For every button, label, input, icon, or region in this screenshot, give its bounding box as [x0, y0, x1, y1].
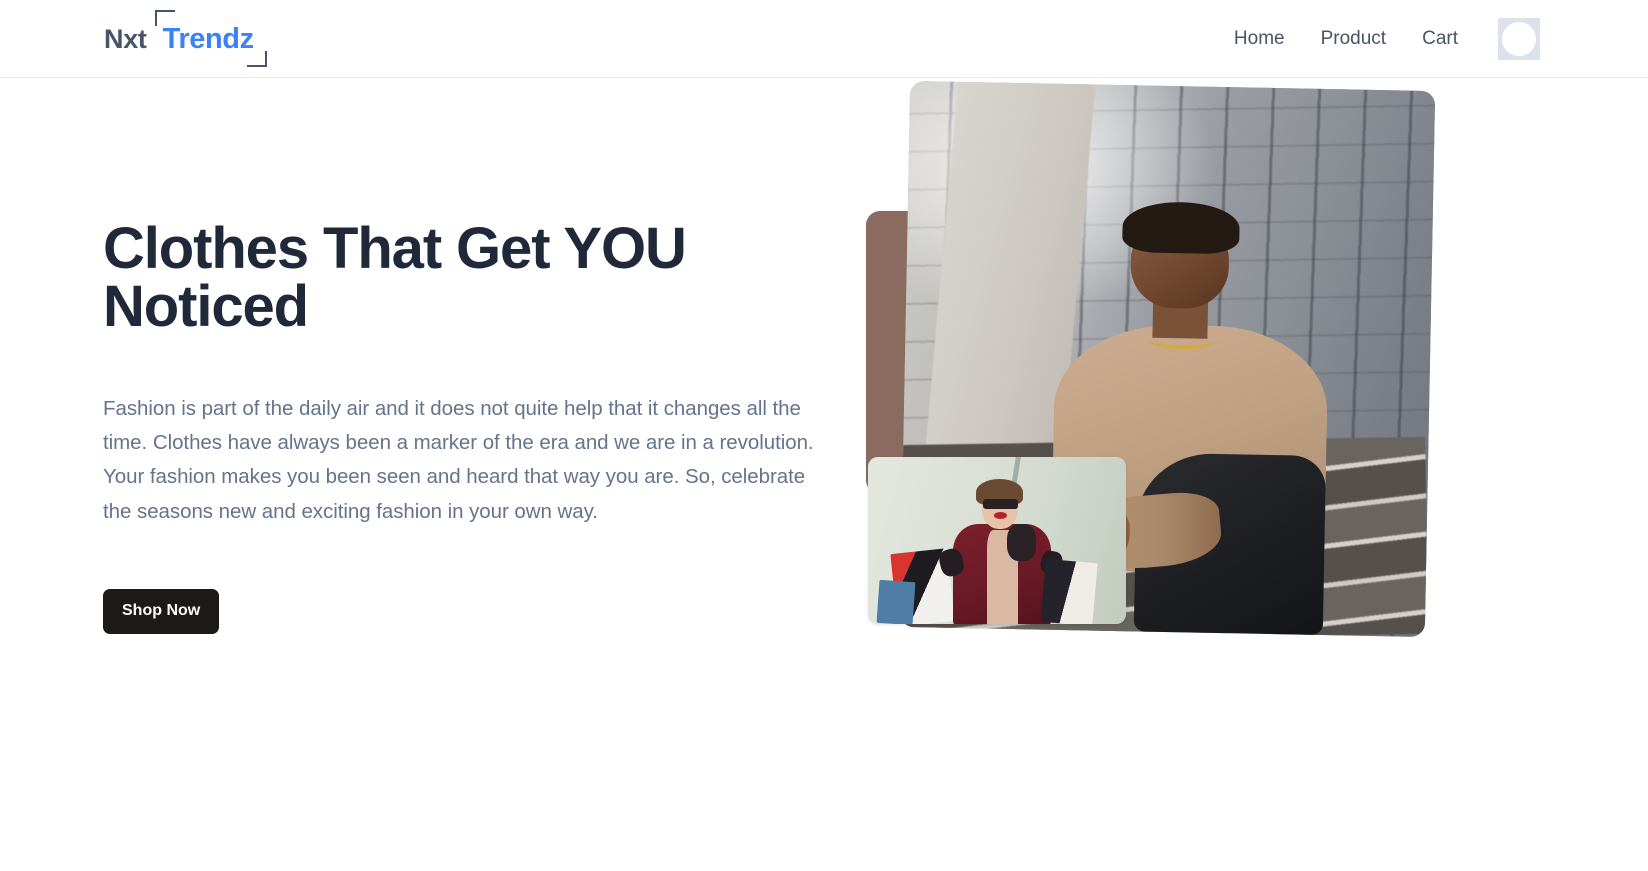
nav-item-cart[interactable]: Cart — [1404, 21, 1476, 56]
hero-imagery — [830, 78, 1648, 871]
logo-bracket-top-left-icon — [155, 10, 175, 26]
hero-inset-photo — [868, 457, 1126, 624]
user-avatar-placeholder-icon — [1502, 22, 1536, 56]
nav-item-home[interactable]: Home — [1216, 21, 1303, 56]
logo-accent-wrap: Trendz — [159, 25, 258, 54]
woman-sunglasses — [983, 499, 1018, 509]
woman-lips — [994, 512, 1007, 519]
woman-fur-collar — [1007, 524, 1035, 561]
site-header: Nxt Trendz Home Product Cart — [0, 0, 1648, 78]
logo-bracket-bottom-right-icon — [247, 51, 267, 67]
hero-description: Fashion is part of the daily air and it … — [103, 392, 825, 529]
hero-section: Clothes That Get YOU Noticed Fashion is … — [0, 78, 1648, 871]
logo-primary-text: Nxt — [104, 26, 147, 53]
logo-accent-text: Trendz — [163, 23, 254, 55]
hero-title: Clothes That Get YOU Noticed — [103, 220, 743, 336]
shopping-bags-right — [1041, 558, 1098, 624]
shop-now-button[interactable]: Shop Now — [103, 589, 219, 634]
person-hair — [1122, 201, 1240, 254]
shopping-bag-blue — [877, 579, 916, 624]
main-navigation: Home Product Cart — [1216, 18, 1540, 60]
profile-avatar[interactable] — [1498, 18, 1540, 60]
hero-content: Clothes That Get YOU Noticed Fashion is … — [0, 78, 830, 634]
site-logo[interactable]: Nxt Trendz — [104, 15, 258, 63]
nav-item-product[interactable]: Product — [1303, 21, 1404, 56]
